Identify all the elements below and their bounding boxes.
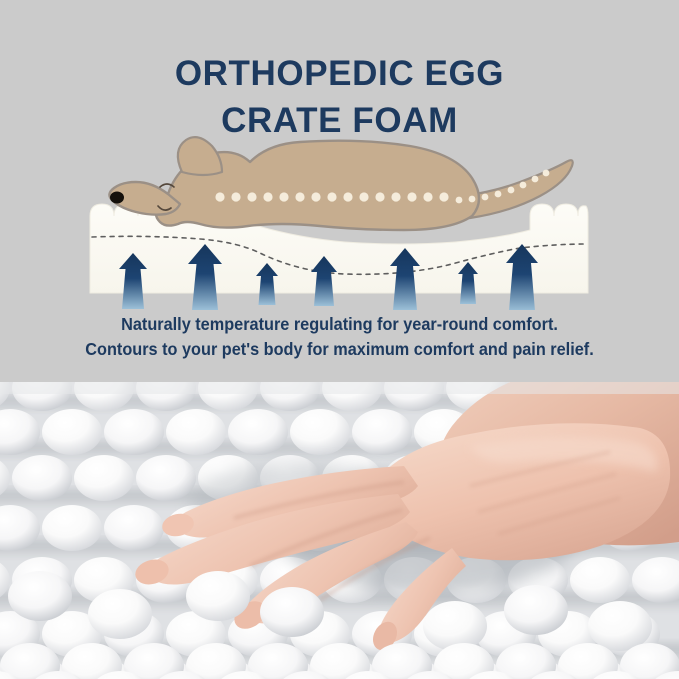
- benefit-text-block: Naturally temperature regulating for yea…: [0, 312, 679, 362]
- dog-on-foam-illustration: [0, 120, 679, 310]
- dog-ear: [178, 137, 222, 175]
- dog-nose-icon: [110, 192, 124, 204]
- page-title-line-1: ORTHOPEDIC EGG: [0, 51, 679, 98]
- dog-spine-dots: [215, 192, 448, 201]
- sleeping-dog: [109, 137, 572, 230]
- benefit-line-1: Naturally temperature regulating for yea…: [24, 312, 655, 337]
- egg-crate-foam-photo: [0, 382, 679, 679]
- hand-on-foam-photo-graphic: [0, 382, 679, 679]
- product-infographic: ORTHOPEDIC EGG CRATE FOAM: [0, 0, 679, 679]
- top-info-panel: ORTHOPEDIC EGG CRATE FOAM: [0, 0, 679, 382]
- benefit-line-2: Contours to your pet's body for maximum …: [24, 337, 655, 362]
